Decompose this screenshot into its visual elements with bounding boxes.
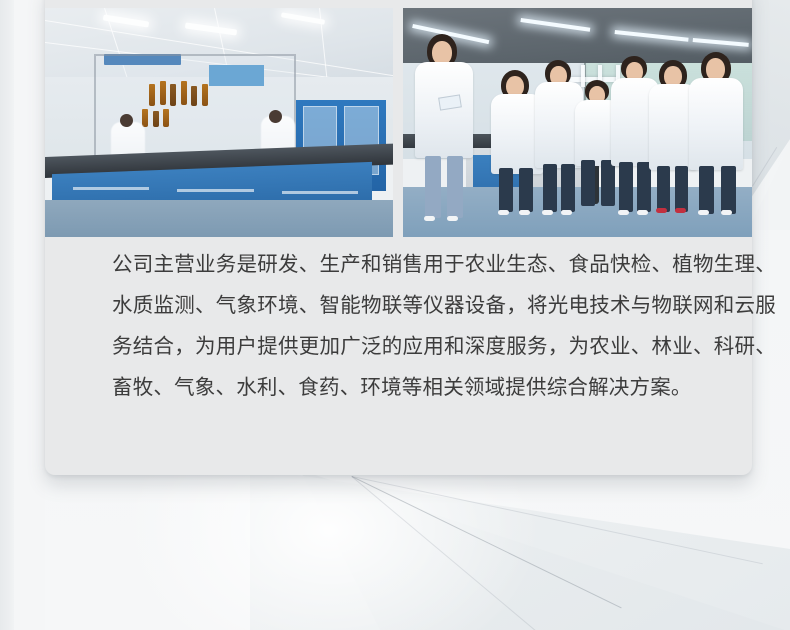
- laboratory-bench-photo: [45, 8, 393, 237]
- research-team-photo: [403, 8, 752, 237]
- background-left-edge-strip: [0, 0, 14, 630]
- page-root: 公司主营业务是研发、生产和销售用于农业生态、食品快检、植物生理、水质监测、气象环…: [0, 0, 790, 630]
- company-intro-text: 公司主营业务是研发、生产和销售用于农业生态、食品快检、植物生理、水质监测、气象环…: [112, 244, 776, 408]
- background-left-inner-strip: [14, 0, 45, 630]
- company-intro-card: 公司主营业务是研发、生产和销售用于农业生态、食品快检、植物生理、水质监测、气象环…: [45, 0, 752, 475]
- company-intro-paragraph: 公司主营业务是研发、生产和销售用于农业生态、食品快检、植物生理、水质监测、气象环…: [112, 244, 776, 408]
- photo-gallery: [45, 8, 752, 237]
